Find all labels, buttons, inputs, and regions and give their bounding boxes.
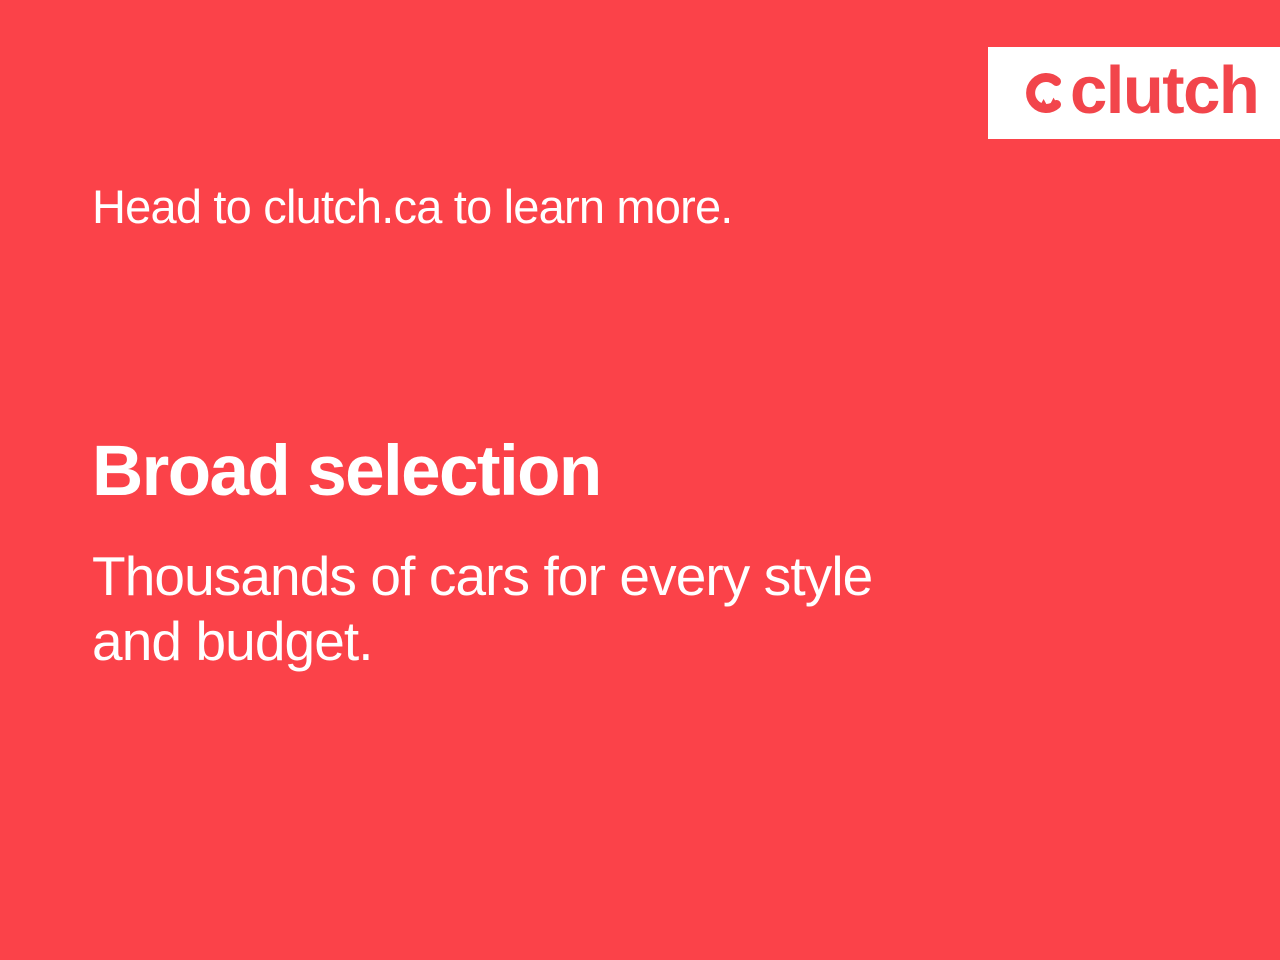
subhead-line-1: Thousands of cars for every style — [92, 544, 872, 609]
clutch-logo-badge[interactable]: clutch — [988, 47, 1280, 139]
eyebrow-text: Head to clutch.ca to learn more. — [92, 180, 733, 234]
logo-wordmark: clutch — [1070, 57, 1258, 124]
subhead-line-2: and budget. — [92, 609, 872, 674]
page-title: Broad selection — [92, 434, 601, 509]
subhead-text: Thousands of cars for every style and bu… — [92, 544, 872, 674]
clutch-arc-icon — [1020, 69, 1068, 117]
promo-slide: clutch Head to clutch.ca to learn more. … — [0, 0, 1280, 960]
logo-lockup: clutch — [1020, 47, 1258, 139]
